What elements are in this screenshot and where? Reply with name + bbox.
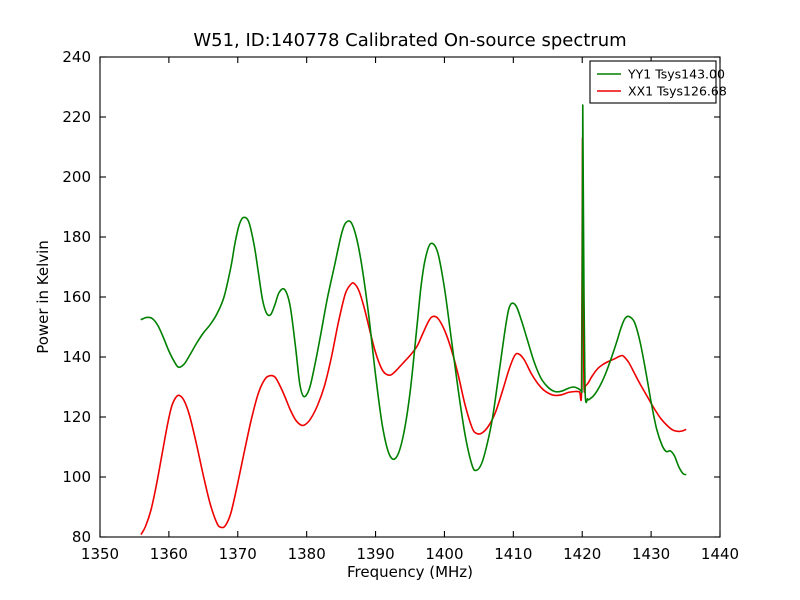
y-tick-label: 120: [62, 408, 91, 426]
x-axis-label: Frequency (MHz): [347, 563, 473, 581]
legend-label-xx1: XX1 Tsys126.68: [628, 84, 727, 99]
x-tick-label: 1400: [425, 545, 463, 563]
y-tick-label: 220: [62, 108, 91, 126]
y-tick-label: 140: [62, 348, 91, 366]
legend: YY1 Tsys143.00XX1 Tsys126.68: [590, 61, 727, 103]
chart-title: W51, ID:140778 Calibrated On-source spec…: [193, 30, 626, 51]
x-tick-label: 1360: [150, 545, 188, 563]
y-tick-label: 80: [72, 528, 91, 546]
y-tick-label: 100: [62, 468, 91, 486]
x-tick-label: 1440: [701, 545, 739, 563]
y-tick-label: 200: [62, 168, 91, 186]
x-tick-label: 1410: [494, 545, 532, 563]
y-tick-label: 180: [62, 228, 91, 246]
x-tick-label: 1380: [288, 545, 326, 563]
x-tick-label: 1430: [632, 545, 670, 563]
plot-area-background: [100, 57, 720, 537]
x-tick-label: 1350: [81, 545, 119, 563]
x-tick-label: 1370: [219, 545, 257, 563]
y-tick-label: 160: [62, 288, 91, 306]
legend-label-yy1: YY1 Tsys143.00: [627, 67, 725, 82]
y-tick-label: 240: [62, 48, 91, 66]
figure-canvas: W51, ID:140778 Calibrated On-source spec…: [0, 0, 800, 600]
spectrum-plot: W51, ID:140778 Calibrated On-source spec…: [0, 0, 800, 600]
y-axis-label: Power in Kelvin: [34, 240, 52, 354]
x-tick-label: 1420: [563, 545, 601, 563]
x-tick-label: 1390: [356, 545, 394, 563]
